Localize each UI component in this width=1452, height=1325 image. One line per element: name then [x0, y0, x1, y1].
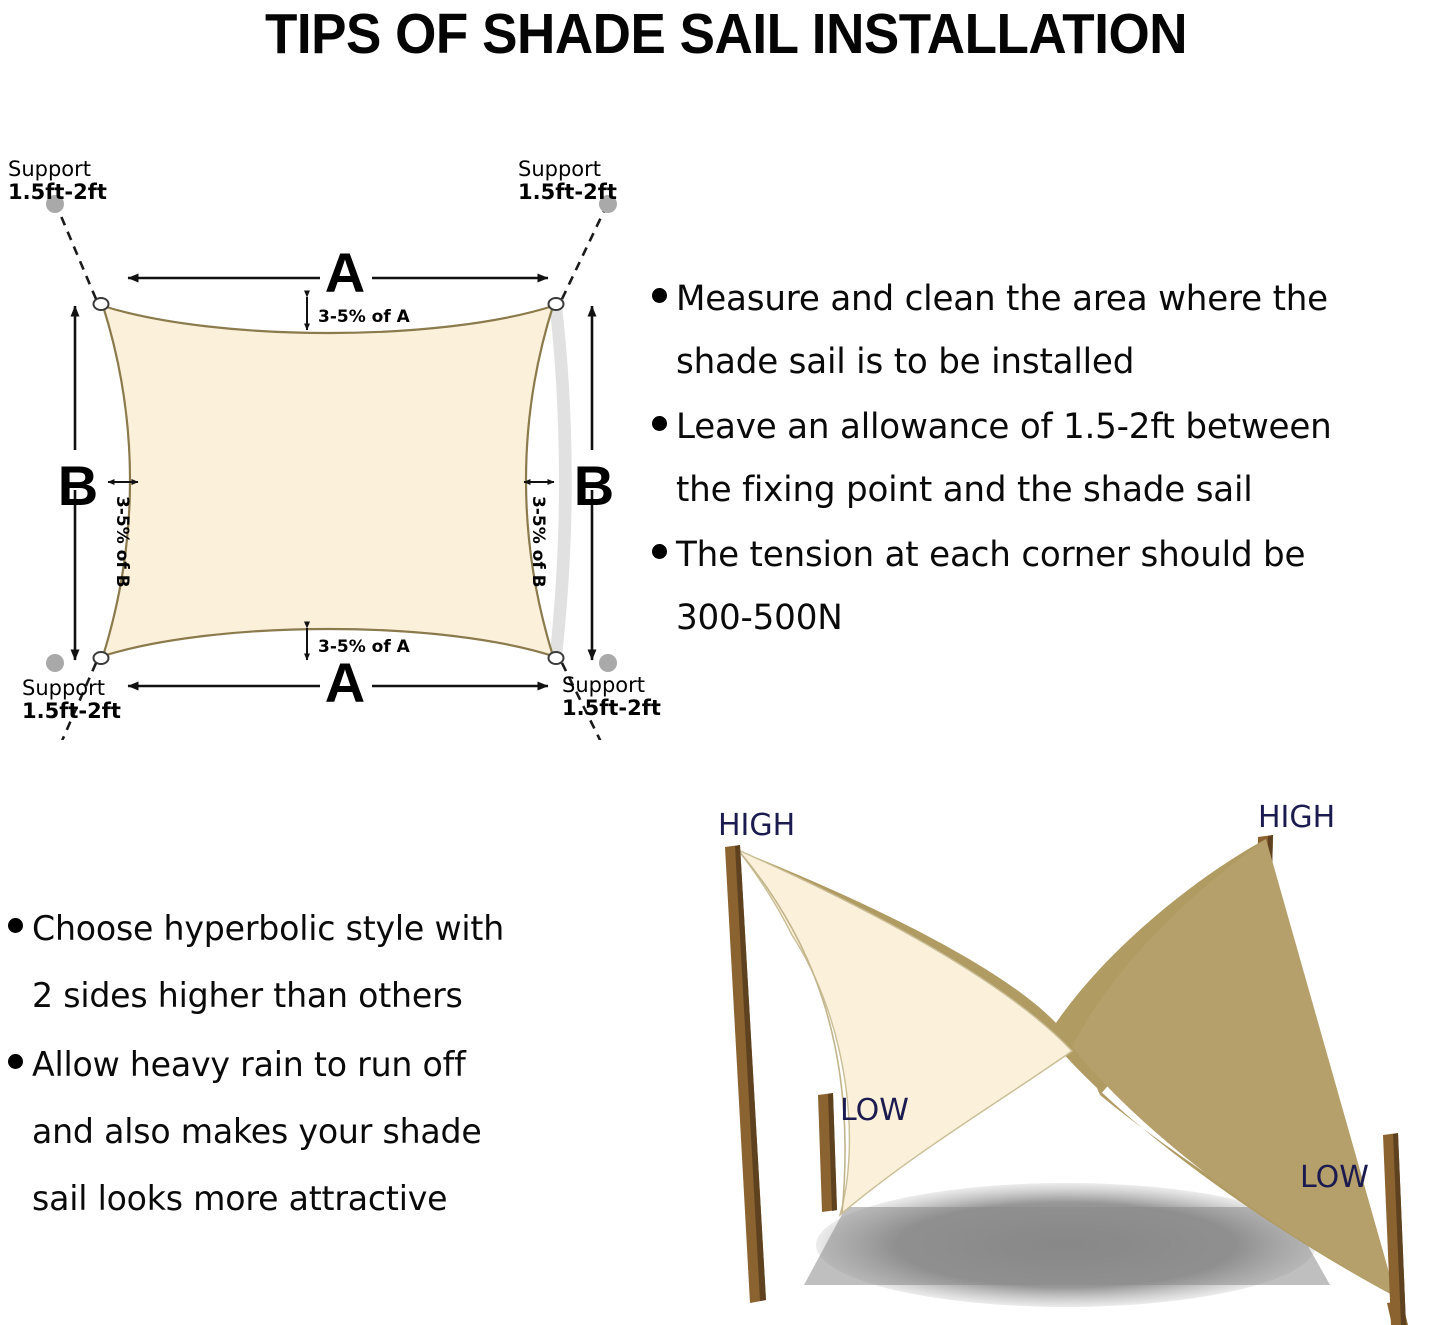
tip-line: The tension at each corner should be — [676, 535, 1305, 575]
tip-line: Choose hyperbolic style with — [32, 909, 504, 949]
label-high-right: HIGH — [1258, 800, 1335, 835]
curvature-note-left: 3-5% of B — [112, 496, 132, 588]
grommet-bottom-left — [94, 652, 109, 664]
dimension-label-a-bottom: A — [325, 651, 365, 714]
tip-text: Allow heavy rain to run off and also mak… — [32, 1032, 482, 1233]
list-item: The tension at each corner should be 300… — [648, 524, 1452, 650]
support-caption-top-right-line2: 1.5ft-2ft — [518, 180, 617, 204]
bullet-dot-icon — [648, 412, 668, 430]
label-low-right: LOW — [1300, 1160, 1369, 1195]
rect-sail-diagram: A A B B 3-5% of A 3-5% of A 3-5% of B 3-… — [0, 160, 680, 740]
tip-line: sail looks more attractive — [32, 1179, 447, 1219]
tip-line: Allow heavy rain to run off — [32, 1045, 466, 1085]
support-dot-bottom-right — [599, 654, 617, 672]
support-caption-bottom-right-line2: 1.5ft-2ft — [562, 696, 661, 720]
tip-line: 2 sides higher than others — [32, 976, 463, 1016]
support-caption-bottom-left-line1: Support — [22, 676, 105, 700]
dimension-label-b-right: B — [574, 454, 614, 517]
label-low-left: LOW — [840, 1093, 909, 1128]
post-high-left — [725, 845, 766, 1303]
support-caption-bottom-right: Support 1.5ft-2ft — [562, 673, 661, 720]
grommet-bottom-right — [549, 652, 564, 664]
support-caption-bottom-left-line2: 1.5ft-2ft — [22, 699, 121, 723]
bullet-dot-icon — [648, 284, 668, 302]
curvature-note-bottom: 3-5% of A — [318, 637, 411, 657]
tip-text: The tension at each corner should be 300… — [676, 524, 1305, 650]
list-item: Allow heavy rain to run off and also mak… — [4, 1032, 624, 1233]
tip-text: Measure and clean the area where the sha… — [676, 268, 1328, 394]
bullet-dot-icon — [4, 1050, 24, 1068]
label-high-left: HIGH — [718, 808, 795, 843]
tip-line: 300-500N — [676, 598, 843, 638]
support-dot-bottom-left — [46, 654, 64, 672]
support-caption-bottom-left: Support 1.5ft-2ft — [22, 676, 121, 723]
dimension-label-a-top: A — [325, 241, 365, 304]
grommet-top-left — [94, 298, 109, 310]
curvature-note-right: 3-5% of B — [528, 496, 548, 588]
list-item: Leave an allowance of 1.5-2ft between th… — [648, 396, 1452, 522]
tip-line: Leave an allowance of 1.5-2ft between — [676, 407, 1332, 447]
support-caption-top-left-line1: Support — [8, 160, 91, 181]
tip-line: Measure and clean the area where the — [676, 279, 1328, 319]
bullet-dot-icon — [4, 914, 24, 932]
tether-top-left — [58, 209, 96, 299]
post-low-right — [1383, 1133, 1408, 1325]
hyperbolic-sail-diagram: HIGH HIGH LOW LOW — [680, 795, 1452, 1325]
tip-text: Leave an allowance of 1.5-2ft between th… — [676, 396, 1332, 522]
support-caption-top-right: Support 1.5ft-2ft — [518, 160, 617, 204]
curvature-note-top: 3-5% of A — [318, 307, 411, 327]
tip-line: the fixing point and the shade sail — [676, 470, 1253, 510]
list-item: Choose hyperbolic style with 2 sides hig… — [4, 896, 624, 1030]
tip-line: and also makes your shade — [32, 1112, 482, 1152]
support-caption-bottom-right-line1: Support — [562, 673, 645, 697]
post-low-left — [818, 1093, 837, 1212]
grommet-top-right — [549, 298, 564, 310]
page-title: TIPS OF SHADE SAIL INSTALLATION — [51, 2, 1401, 66]
tip-text: Choose hyperbolic style with 2 sides hig… — [32, 896, 504, 1030]
dimension-label-b-left: B — [58, 454, 98, 517]
sail-shape — [103, 306, 553, 656]
tip-line: shade sail is to be installed — [676, 342, 1134, 382]
tips-list-top: Measure and clean the area where the sha… — [648, 268, 1452, 652]
support-caption-top-right-line1: Support — [518, 160, 601, 181]
tether-top-right — [562, 209, 605, 299]
support-caption-top-left-line2: 1.5ft-2ft — [8, 180, 107, 204]
sail-surface-cream — [738, 850, 1072, 1215]
bullet-dot-icon — [648, 540, 668, 558]
list-item: Measure and clean the area where the sha… — [648, 268, 1452, 394]
tips-list-bottom: Choose hyperbolic style with 2 sides hig… — [4, 896, 624, 1235]
support-caption-top-left: Support 1.5ft-2ft — [8, 160, 107, 204]
